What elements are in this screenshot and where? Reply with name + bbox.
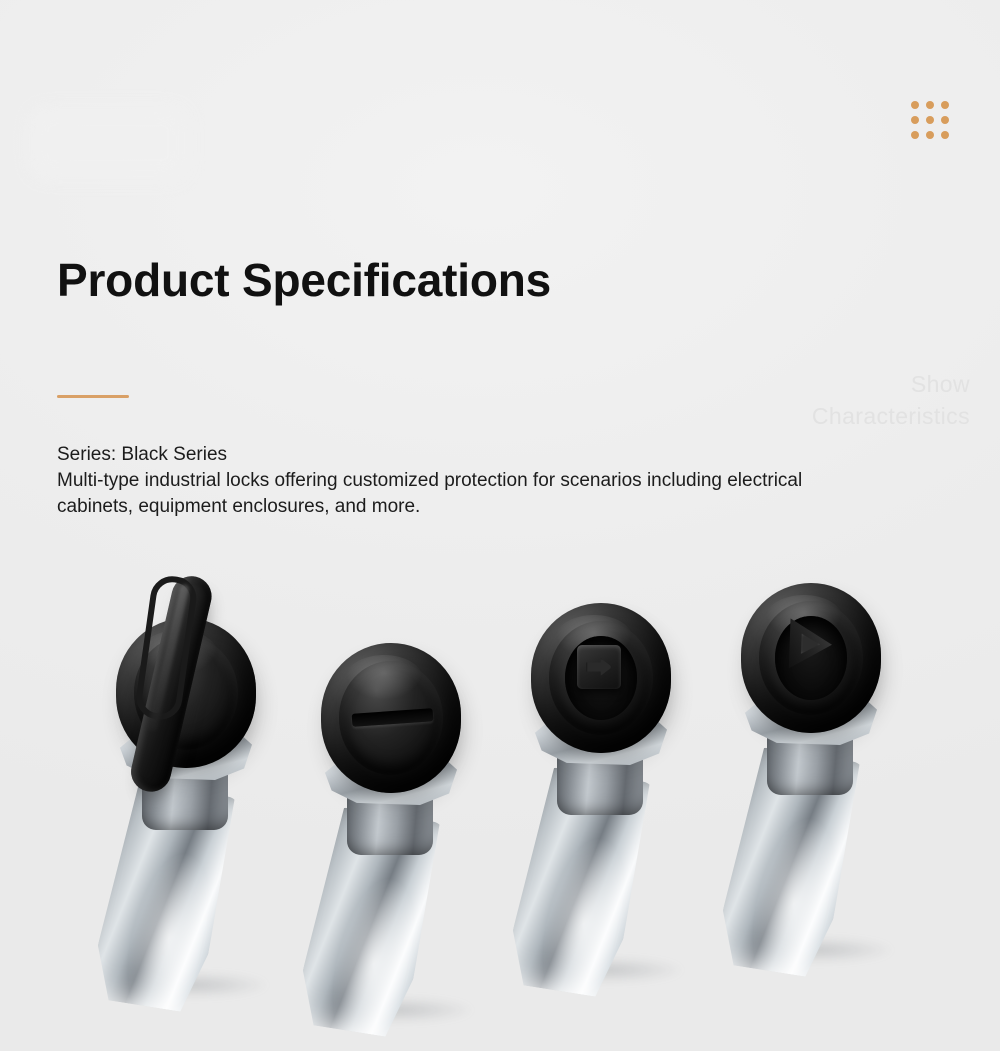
grid-dot — [941, 131, 949, 139]
spec-description-block: Series: Black Series Multi-type industri… — [57, 442, 817, 520]
black-cap — [741, 583, 881, 733]
product-wing-handle-cam-lock — [90, 590, 280, 990]
grid-dot — [926, 101, 934, 109]
socket-recess — [775, 616, 848, 700]
series-label: Series: Black Series — [57, 442, 817, 468]
black-cap — [321, 643, 461, 793]
grid-dot — [941, 116, 949, 124]
product-specifications-page: Product Specifications Show Characterist… — [0, 0, 1000, 1051]
black-cap — [531, 603, 671, 753]
grid-dot — [941, 101, 949, 109]
square-socket-icon — [577, 645, 621, 689]
decorative-blob — [30, 108, 186, 178]
grid-dots-icon — [908, 98, 952, 142]
product-image-group — [0, 560, 1000, 1030]
grid-dot — [926, 131, 934, 139]
grid-dot — [911, 116, 919, 124]
spec-description: Multi-type industrial locks offering cus… — [57, 468, 817, 520]
watermark-line-2: Characteristics — [610, 400, 970, 432]
product-square-socket-cam-lock — [505, 575, 695, 975]
arrow-glyph-icon — [586, 658, 612, 677]
page-title: Product Specifications — [57, 249, 551, 311]
grid-dot — [926, 116, 934, 124]
product-triangle-socket-cam-lock — [715, 555, 905, 955]
slotted-groove-icon — [351, 708, 433, 727]
accent-rule — [57, 395, 129, 398]
grid-dot — [911, 101, 919, 109]
product-slotted-cam-lock — [295, 615, 485, 1015]
watermark-text: Show Characteristics — [610, 368, 970, 432]
watermark-line-1: Show — [610, 368, 970, 400]
grid-dot — [911, 131, 919, 139]
